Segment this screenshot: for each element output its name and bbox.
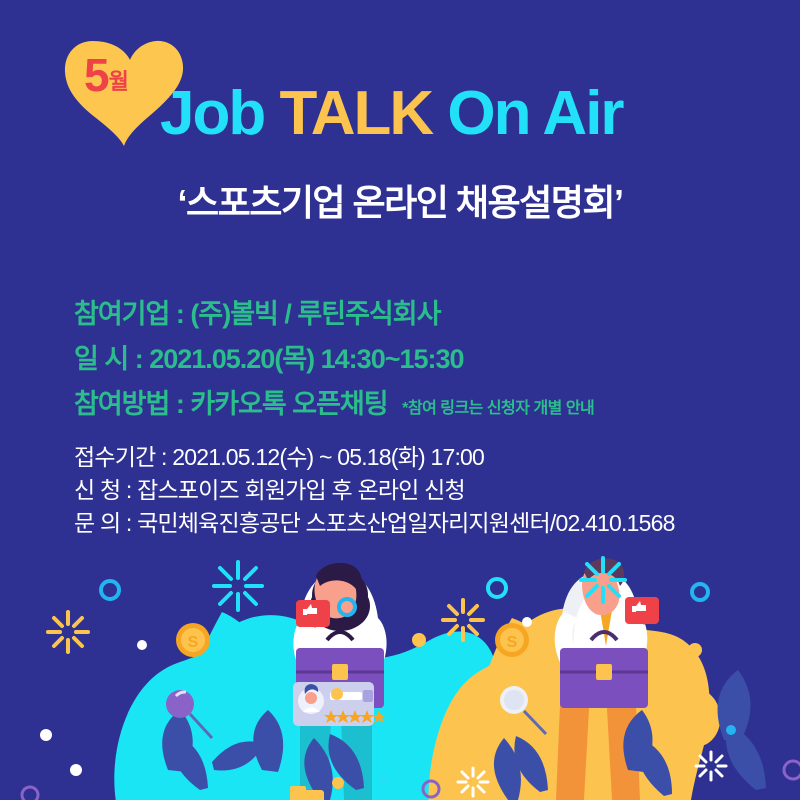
highlight-info-block: 참여기업 : (주)볼빅 / 루틴주식회사 일 시 : 2021.05.20(목… [74, 292, 774, 431]
title-part-onair: On Air [447, 79, 622, 148]
poster-canvas: S S [0, 0, 800, 800]
info-label-datetime: 일 시 [74, 337, 128, 382]
coin-right: S [495, 623, 529, 657]
detail-value-contact: : 국민체육진흥공단 스포츠산업일자리지원센터/02.410.1568 [126, 510, 675, 536]
detail-info-block: 접수기간 : 2021.05.12(수) ~ 05.18(화) 17:00 신 … [74, 441, 794, 540]
detail-label-apply: 신 청 [74, 477, 120, 503]
detail-row-apply: 신 청 : 잡스포이즈 회원가입 후 온라인 신청 [74, 474, 794, 507]
info-row-datetime: 일 시 : 2021.05.20(목) 14:30~15:30 [74, 337, 774, 382]
page-title: Job TALK On Air [160, 83, 623, 145]
detail-value-period: : 2021.05.12(수) ~ 05.18(화) 17:00 [161, 444, 484, 470]
info-label-company: 참여기업 [74, 292, 169, 337]
svg-text:S: S [188, 634, 199, 651]
info-value-company: : (주)볼빅 / 루틴주식회사 [176, 299, 441, 329]
svg-text:S: S [507, 634, 518, 651]
info-row-company: 참여기업 : (주)볼빅 / 루틴주식회사 [74, 292, 774, 337]
title-part-job: Job [160, 79, 264, 148]
detail-row-period: 접수기간 : 2021.05.12(수) ~ 05.18(화) 17:00 [74, 441, 794, 474]
like-badge-right [625, 597, 659, 625]
detail-row-contact: 문 의 : 국민체육진흥공단 스포츠산업일자리지원센터/02.410.1568 [74, 507, 794, 540]
like-badge-left [296, 600, 330, 628]
detail-value-apply: : 잡스포이즈 회원가입 후 온라인 신청 [126, 477, 465, 503]
coin-left: S [176, 623, 210, 657]
info-row-method: 참여방법 : 카카오톡 오픈채팅 *참여 링크는 신청자 개별 안내 [74, 382, 774, 431]
info-value-datetime: : 2021.05.20(목) 14:30~15:30 [135, 344, 464, 374]
folder-tab-icon [290, 786, 306, 792]
detail-label-contact: 문 의 [74, 510, 120, 536]
title-part-talk: TALK [279, 79, 432, 148]
detail-label-period: 접수기간 [74, 444, 155, 470]
info-value-method: : 카카오톡 오픈채팅 [176, 389, 388, 419]
info-note-method: *참여 링크는 신청자 개별 안내 [402, 400, 594, 417]
page-subtitle: ‘스포츠기업 온라인 채용설명회’ [0, 174, 800, 226]
right-blob-dot [674, 689, 720, 747]
info-label-method: 참여방법 [74, 382, 169, 427]
